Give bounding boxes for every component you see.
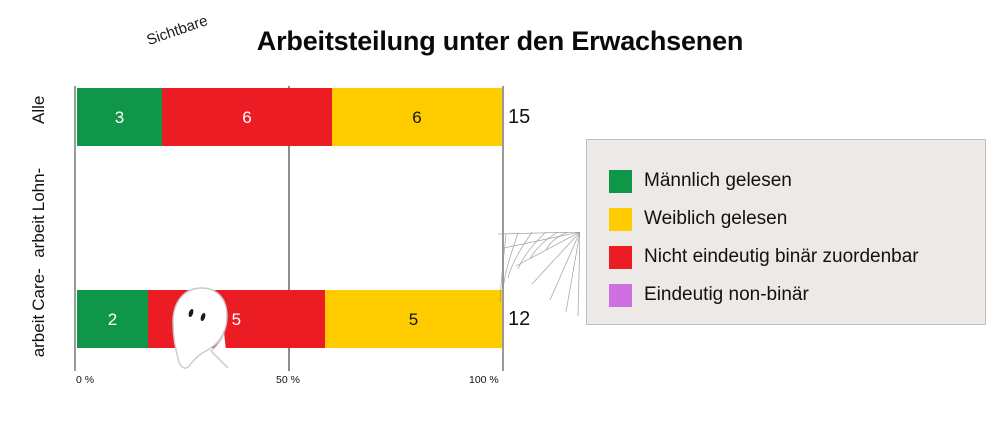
bar-segment-alle-weiblich: 6 [332,88,502,146]
y-axis-label-carearbeit: Care- arbeit [29,258,49,368]
bar-value-label: 6 [242,109,251,126]
y-label-line1: Alle [29,96,48,124]
y-label-line1: Lohn- [29,168,49,211]
legend-label: Weiblich gelesen [644,208,787,230]
legend-item-weiblich[interactable]: Weiblich gelesen [609,200,975,238]
bar-segment-care-weiblich: 5 [325,290,502,348]
bar-segment-care-nichtbinaer: 5 [148,290,325,348]
bar-segment-alle-maennlich: 3 [77,88,162,146]
y-label-line1: Care- [29,268,49,311]
bar-value-label: 6 [412,109,421,126]
legend-label: Männlich gelesen [644,170,792,192]
x-tick-0: 0 % [76,374,94,386]
bar-row-alle: 3 6 6 [77,88,502,146]
row-total-carearbeit: 12 [508,308,530,331]
y-label-line2: arbeit [29,215,49,258]
spiderweb-icon [498,232,580,316]
legend-label: Eindeutig non-binär [644,284,809,306]
y-axis-line [74,86,76,371]
chart-page: Sichtbare Arbeitsteilung unter den Erwac… [0,0,1000,431]
legend-label: Nicht eindeutig binär zuordenbar [644,246,919,268]
x-tick-50: 50 % [276,374,300,386]
y-axis-label-lohnarbeit: Lohn- arbeit [29,158,49,268]
legend-swatch-purple [609,284,632,307]
row-total-alle: 15 [508,106,530,129]
bar-value-label: 3 [115,109,124,126]
bar-segment-alle-nichtbinaer: 6 [162,88,332,146]
legend-item-nicht-eindeutig[interactable]: Nicht eindeutig binär zuordenbar [609,238,975,276]
page-title: Arbeitsteilung unter den Erwachsenen [0,26,1000,57]
bar-value-label: 5 [232,311,241,328]
bar-segment-care-maennlich: 2 [77,290,148,348]
legend-swatch-yellow [609,208,632,231]
plot-right-border [502,86,504,371]
legend-item-maennlich[interactable]: Männlich gelesen [609,162,975,200]
legend-item-non-binaer[interactable]: Eindeutig non-binär [609,276,975,314]
y-label-line2: arbeit [29,315,49,358]
legend-list: Männlich gelesen Weiblich gelesen Nicht … [609,162,975,314]
bar-row-lohnarbeit [77,190,502,248]
legend-swatch-red [609,246,632,269]
bar-value-label: 5 [409,311,418,328]
legend-swatch-green [609,170,632,193]
plot-area: 3 6 6 2 5 5 [74,86,504,371]
chart-title-area: Sichtbare Arbeitsteilung unter den Erwac… [0,12,1000,64]
x-tick-100: 100 % [469,374,499,386]
bar-row-carearbeit: 2 5 5 [77,290,502,348]
bar-value-label: 2 [108,311,117,328]
chart-legend: Männlich gelesen Weiblich gelesen Nicht … [586,139,986,325]
y-axis-label-alle: Alle [29,65,49,155]
